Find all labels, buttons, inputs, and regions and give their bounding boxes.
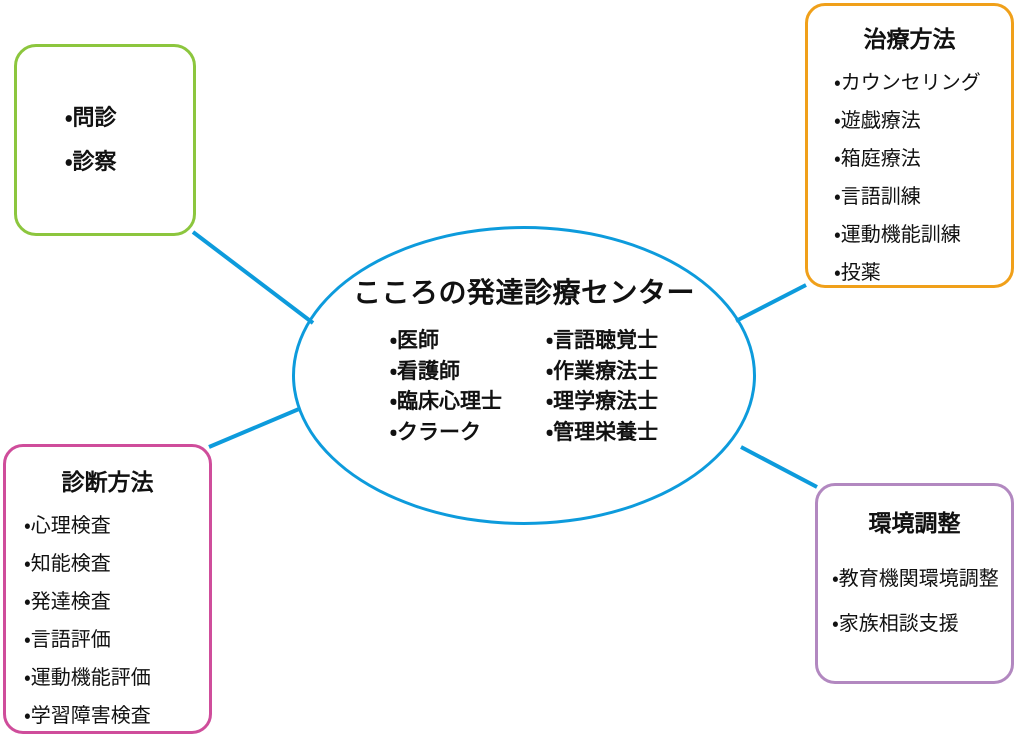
node-environment-item: ・家族相談支援 [832, 607, 1011, 636]
staff-item: ・臨床心理士 [390, 390, 502, 414]
staff-label: 作業療法士 [553, 360, 658, 383]
staff-label: 管理栄養士 [553, 421, 658, 444]
staff-item: ・クラーク [390, 421, 502, 445]
node-treatment-item: ・箱庭療法 [834, 142, 1011, 171]
staff-label: 臨床心理士 [397, 390, 502, 413]
node-treatment-title: 治療方法 [808, 20, 1011, 54]
node-treatment-item: ・遊戯療法 [834, 104, 1011, 133]
node-environment: 環境調整 ・教育機関環境調整 ・家族相談支援 [815, 483, 1014, 684]
node-treatment-item: ・言語訓練 [834, 180, 1011, 209]
node-treatment-item: ・投薬 [834, 256, 1011, 285]
node-environment-item: ・教育機関環境調整 [832, 562, 1011, 591]
node-diagnosis-list: ・心理検査 ・知能検査 ・発達検査 ・言語評価 ・運動機能評価 ・学習障害検査 [6, 509, 209, 728]
node-environment-list: ・教育機関環境調整 ・家族相談支援 [818, 562, 1011, 636]
center-node-ellipse: こころの発達診療センター ・医師 ・看護師 ・臨床心理士 ・クラーク ・言語聴覚… [292, 226, 756, 525]
node-diagnosis-title: 診断方法 [6, 463, 209, 497]
staff-item: ・管理栄養士 [546, 421, 658, 445]
node-treatment-item: ・カウンセリング [834, 66, 1011, 95]
connector-environment [741, 447, 817, 487]
staff-label: 理学療法士 [553, 390, 658, 413]
center-node-title: こころの発達診療センター [295, 271, 753, 311]
center-node-staff-columns: ・医師 ・看護師 ・臨床心理士 ・クラーク ・言語聴覚士 ・作業療法士 ・理学療… [390, 329, 658, 444]
node-diagnosis-item: ・言語評価 [24, 623, 209, 652]
node-environment-title: 環境調整 [818, 504, 1011, 538]
staff-item: ・医師 [390, 329, 502, 353]
staff-item: ・言語聴覚士 [546, 329, 658, 353]
staff-label: 看護師 [397, 360, 460, 383]
node-intake-item: ・問診 [65, 107, 193, 129]
node-diagnosis-item: ・知能検査 [24, 547, 209, 576]
staff-label: 医師 [397, 329, 439, 352]
node-intake-item: ・診察 [65, 151, 193, 173]
node-intake: ・問診 ・診察 [14, 44, 196, 236]
node-treatment: 治療方法 ・カウンセリング ・遊戯療法 ・箱庭療法 ・言語訓練 ・運動機能訓練 … [805, 3, 1014, 288]
staff-item: ・作業療法士 [546, 360, 658, 384]
staff-item: ・看護師 [390, 360, 502, 384]
node-treatment-item: ・運動機能訓練 [834, 218, 1011, 247]
diagram-canvas: こころの発達診療センター ・医師 ・看護師 ・臨床心理士 ・クラーク ・言語聴覚… [0, 0, 1024, 744]
staff-item: ・理学療法士 [546, 390, 658, 414]
staff-label: クラーク [397, 421, 481, 444]
staff-column-right: ・言語聴覚士 ・作業療法士 ・理学療法士 ・管理栄養士 [546, 329, 658, 444]
node-diagnosis-item: ・心理検査 [24, 509, 209, 538]
node-diagnosis-item: ・発達検査 [24, 585, 209, 614]
node-diagnosis: 診断方法 ・心理検査 ・知能検査 ・発達検査 ・言語評価 ・運動機能評価 ・学習… [3, 444, 212, 734]
connector-diagnosis [209, 409, 299, 447]
node-treatment-list: ・カウンセリング ・遊戯療法 ・箱庭療法 ・言語訓練 ・運動機能訓練 ・投薬 [808, 66, 1011, 285]
staff-label: 言語聴覚士 [553, 329, 658, 352]
node-diagnosis-item: ・運動機能評価 [24, 661, 209, 690]
node-diagnosis-item: ・学習障害検査 [24, 699, 209, 728]
staff-column-left: ・医師 ・看護師 ・臨床心理士 ・クラーク [390, 329, 502, 444]
